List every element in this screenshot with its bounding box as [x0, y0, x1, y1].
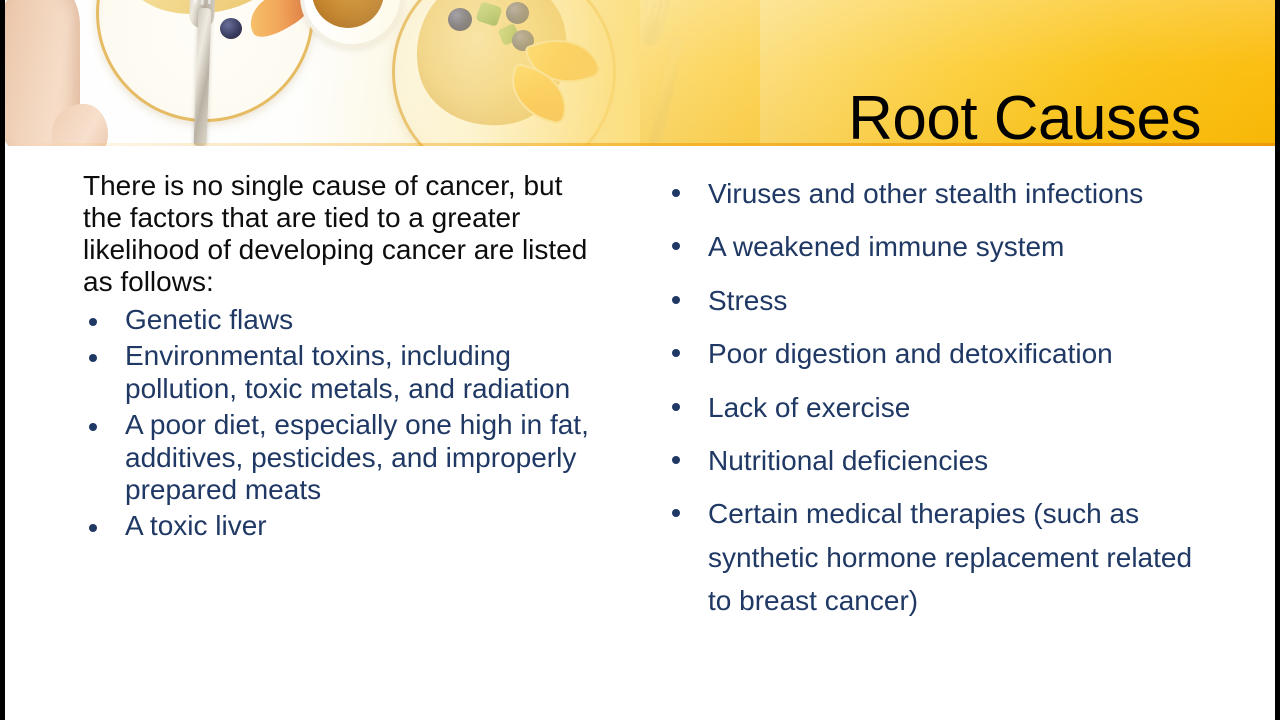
left-content-column: There is no single cause of cancer, but …	[77, 146, 607, 547]
list-item: Lack of exercise	[660, 386, 1220, 429]
list-item: Stress	[660, 279, 1220, 322]
list-item: Viruses and other stealth infections	[660, 172, 1220, 215]
list-item: Environmental toxins, including pollutio…	[77, 340, 607, 405]
list-item-label: A weakened immune system	[708, 231, 1064, 262]
bullet-dot-icon	[672, 189, 680, 197]
bullet-dot-icon	[672, 456, 680, 464]
list-item-label: Certain medical therapies (such as synth…	[708, 498, 1192, 616]
list-item-label: A poor diet, especially one high in fat,…	[125, 409, 589, 505]
bullet-dot-icon	[89, 524, 97, 532]
list-item: Genetic flaws	[77, 304, 607, 336]
bullet-dot-icon	[672, 296, 680, 304]
intro-paragraph: There is no single cause of cancer, but …	[77, 146, 607, 298]
list-item-label: Genetic flaws	[125, 304, 293, 335]
bullet-dot-icon	[672, 349, 680, 357]
left-bullet-list: Genetic flaws Environmental toxins, incl…	[77, 304, 607, 543]
page-title: Root Causes	[848, 88, 1201, 150]
bullet-dot-icon	[672, 403, 680, 411]
list-item-label: Stress	[708, 285, 787, 316]
list-item-label: Poor digestion and detoxification	[708, 338, 1113, 369]
right-bullet-list: Viruses and other stealth infections A w…	[660, 146, 1220, 623]
bullet-dot-icon	[89, 318, 97, 326]
right-content-column: Viruses and other stealth infections A w…	[660, 146, 1220, 633]
slide-root: Root Causes There is no single cause of …	[0, 0, 1280, 720]
bullet-dot-icon	[89, 423, 97, 431]
bullet-dot-icon	[89, 354, 97, 362]
list-item-label: Nutritional deficiencies	[708, 445, 988, 476]
bullet-dot-icon	[672, 242, 680, 250]
slide-body: There is no single cause of cancer, but …	[5, 146, 1275, 720]
list-item: Nutritional deficiencies	[660, 439, 1220, 482]
list-item-label: Lack of exercise	[708, 392, 910, 423]
bullet-dot-icon	[672, 509, 680, 517]
list-item: A poor diet, especially one high in fat,…	[77, 409, 607, 506]
list-item-label: Environmental toxins, including pollutio…	[125, 340, 570, 403]
list-item: A weakened immune system	[660, 225, 1220, 268]
list-item-label: Viruses and other stealth infections	[708, 178, 1143, 209]
list-item-label: A toxic liver	[125, 510, 267, 541]
list-item: Poor digestion and detoxification	[660, 332, 1220, 375]
list-item: A toxic liver	[77, 510, 607, 542]
list-item: Certain medical therapies (such as synth…	[660, 492, 1220, 622]
